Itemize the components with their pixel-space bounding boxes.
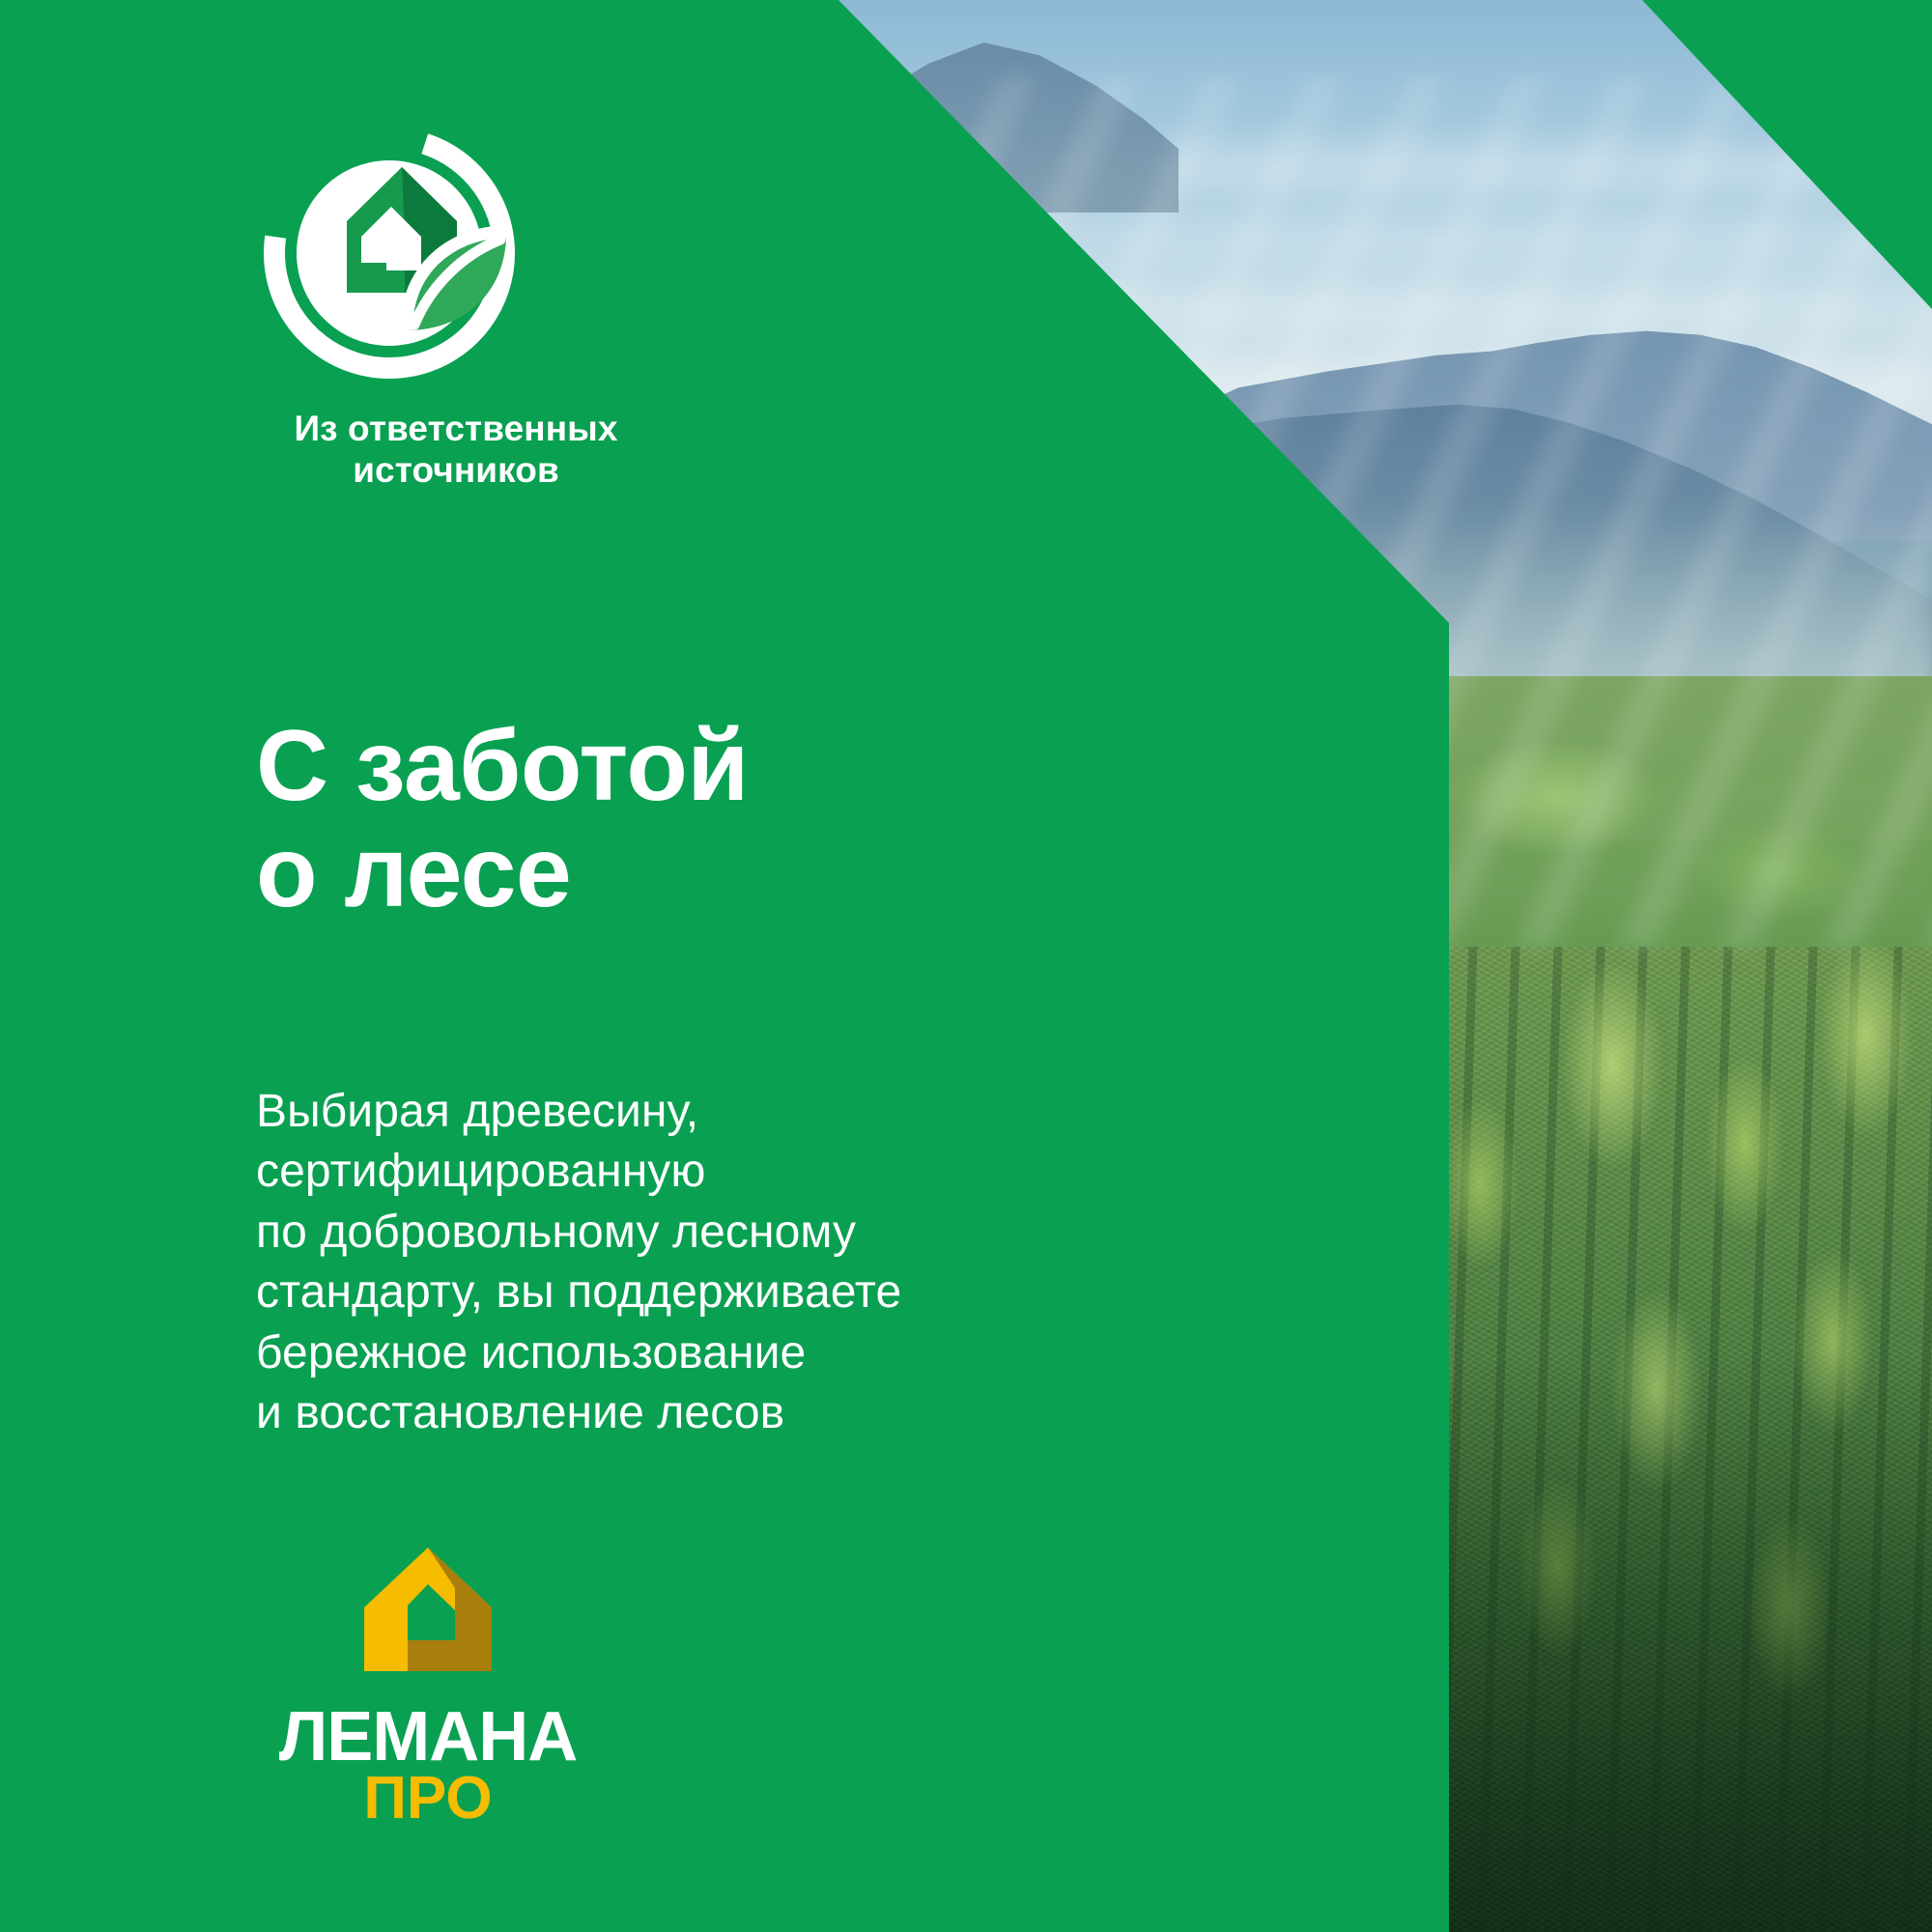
page-title: С заботой о лесе [256, 713, 749, 925]
description-text: Выбирая древесину, сертифицированную по … [256, 1082, 901, 1443]
poster-content: Из ответственных источников С заботой о … [0, 0, 1932, 1932]
house-leaf-circle-icon [260, 124, 519, 383]
lemana-house-icon [362, 1546, 494, 1673]
brand-suffix: ПРО [363, 1765, 492, 1822]
badge-caption: Из ответственных источников [253, 408, 659, 492]
poster-root: Из ответственных источников С заботой о … [0, 0, 1932, 1932]
responsible-sources-badge: Из ответственных источников [253, 124, 659, 492]
brand-name: ЛЕМАНА [279, 1698, 578, 1776]
lemana-pro-wordmark: ЛЕМАНА ПРО [269, 1698, 587, 1822]
brand-lockup: ЛЕМАНА ПРО [254, 1546, 602, 1822]
